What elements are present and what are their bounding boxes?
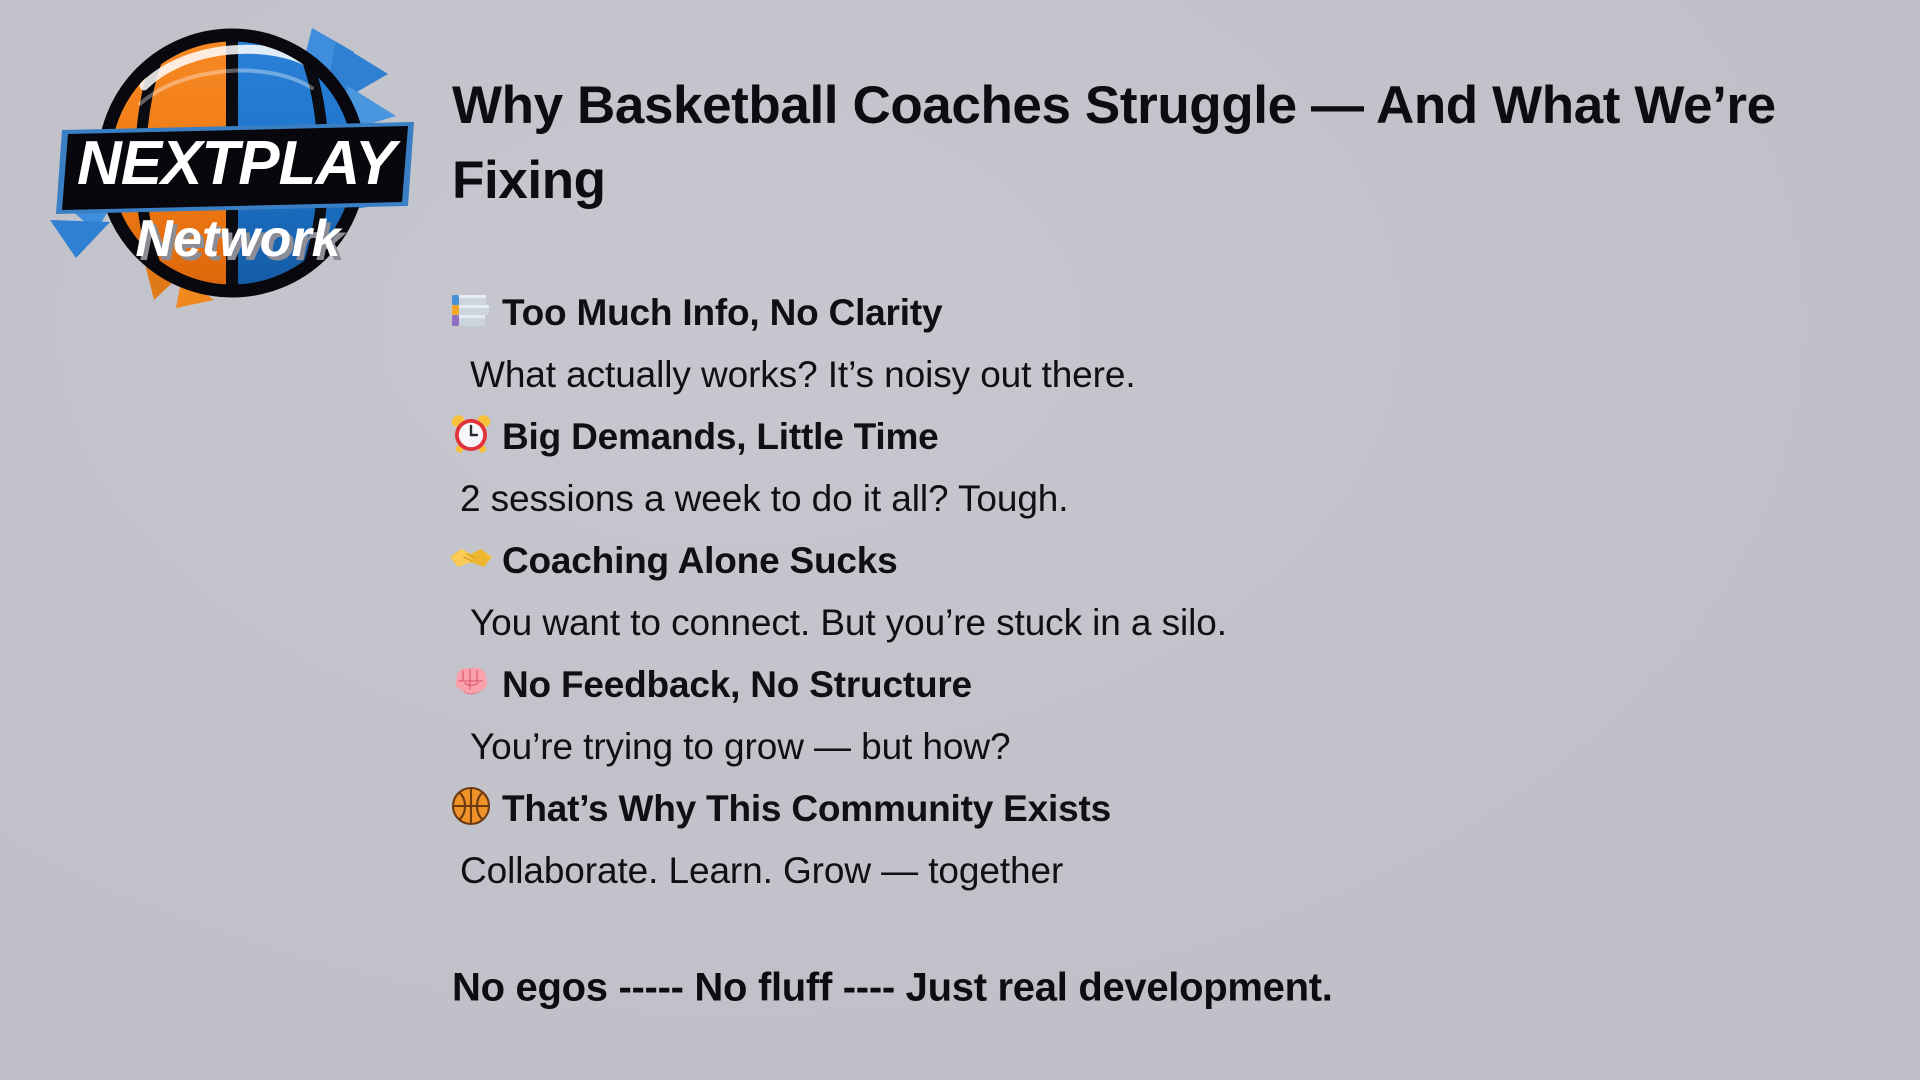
logo-subwordmark: Network Network <box>135 210 347 272</box>
list-item-heading: Too Much Info, No Clarity <box>448 282 1868 344</box>
svg-text:NEXTPLAY: NEXTPLAY <box>77 129 402 198</box>
list-item-heading-text: Coaching Alone Sucks <box>502 540 898 581</box>
list-item-heading-text: That’s Why This Community Exists <box>502 788 1111 829</box>
list-item-heading-text: Too Much Info, No Clarity <box>502 292 942 333</box>
list-item-sub: You’re trying to grow — but how? <box>448 716 1868 778</box>
logo-wordmark-banner: NEXTPLAY <box>56 122 414 214</box>
list-item-sub: Collaborate. Learn. Grow — together <box>448 840 1868 902</box>
alarm-clock-icon <box>448 411 494 457</box>
slide-canvas: NEXTPLAY Network Network Why Basketball … <box>0 0 1920 1080</box>
list-item-heading-text: No Feedback, No Structure <box>502 664 972 705</box>
brain-icon <box>448 659 494 705</box>
list-item-heading: No Feedback, No Structure <box>448 654 1868 716</box>
footer-tagline: No egos ----- No fluff ---- Just real de… <box>452 966 1333 1011</box>
list-item-heading: Coaching Alone Sucks <box>448 530 1868 592</box>
list-item-sub: You want to connect. But you’re stuck in… <box>448 592 1868 654</box>
page-title: Why Basketball Coaches Struggle — And Wh… <box>452 68 1812 219</box>
books-icon <box>448 287 494 333</box>
nextplay-network-logo: NEXTPLAY Network Network <box>36 8 426 318</box>
list-item-sub: What actually works? It’s noisy out ther… <box>448 344 1868 406</box>
list-item-heading-text: Big Demands, Little Time <box>502 416 939 457</box>
list-item-sub: 2 sessions a week to do it all? Tough. <box>448 468 1868 530</box>
list-item-heading: That’s Why This Community Exists <box>448 778 1868 840</box>
basketball-icon <box>448 783 494 829</box>
svg-text:Network: Network <box>135 210 343 268</box>
list-item-heading: Big Demands, Little Time <box>448 406 1868 468</box>
handshake-icon <box>448 535 494 581</box>
pain-points-list: Too Much Info, No Clarity What actually … <box>448 282 1868 902</box>
